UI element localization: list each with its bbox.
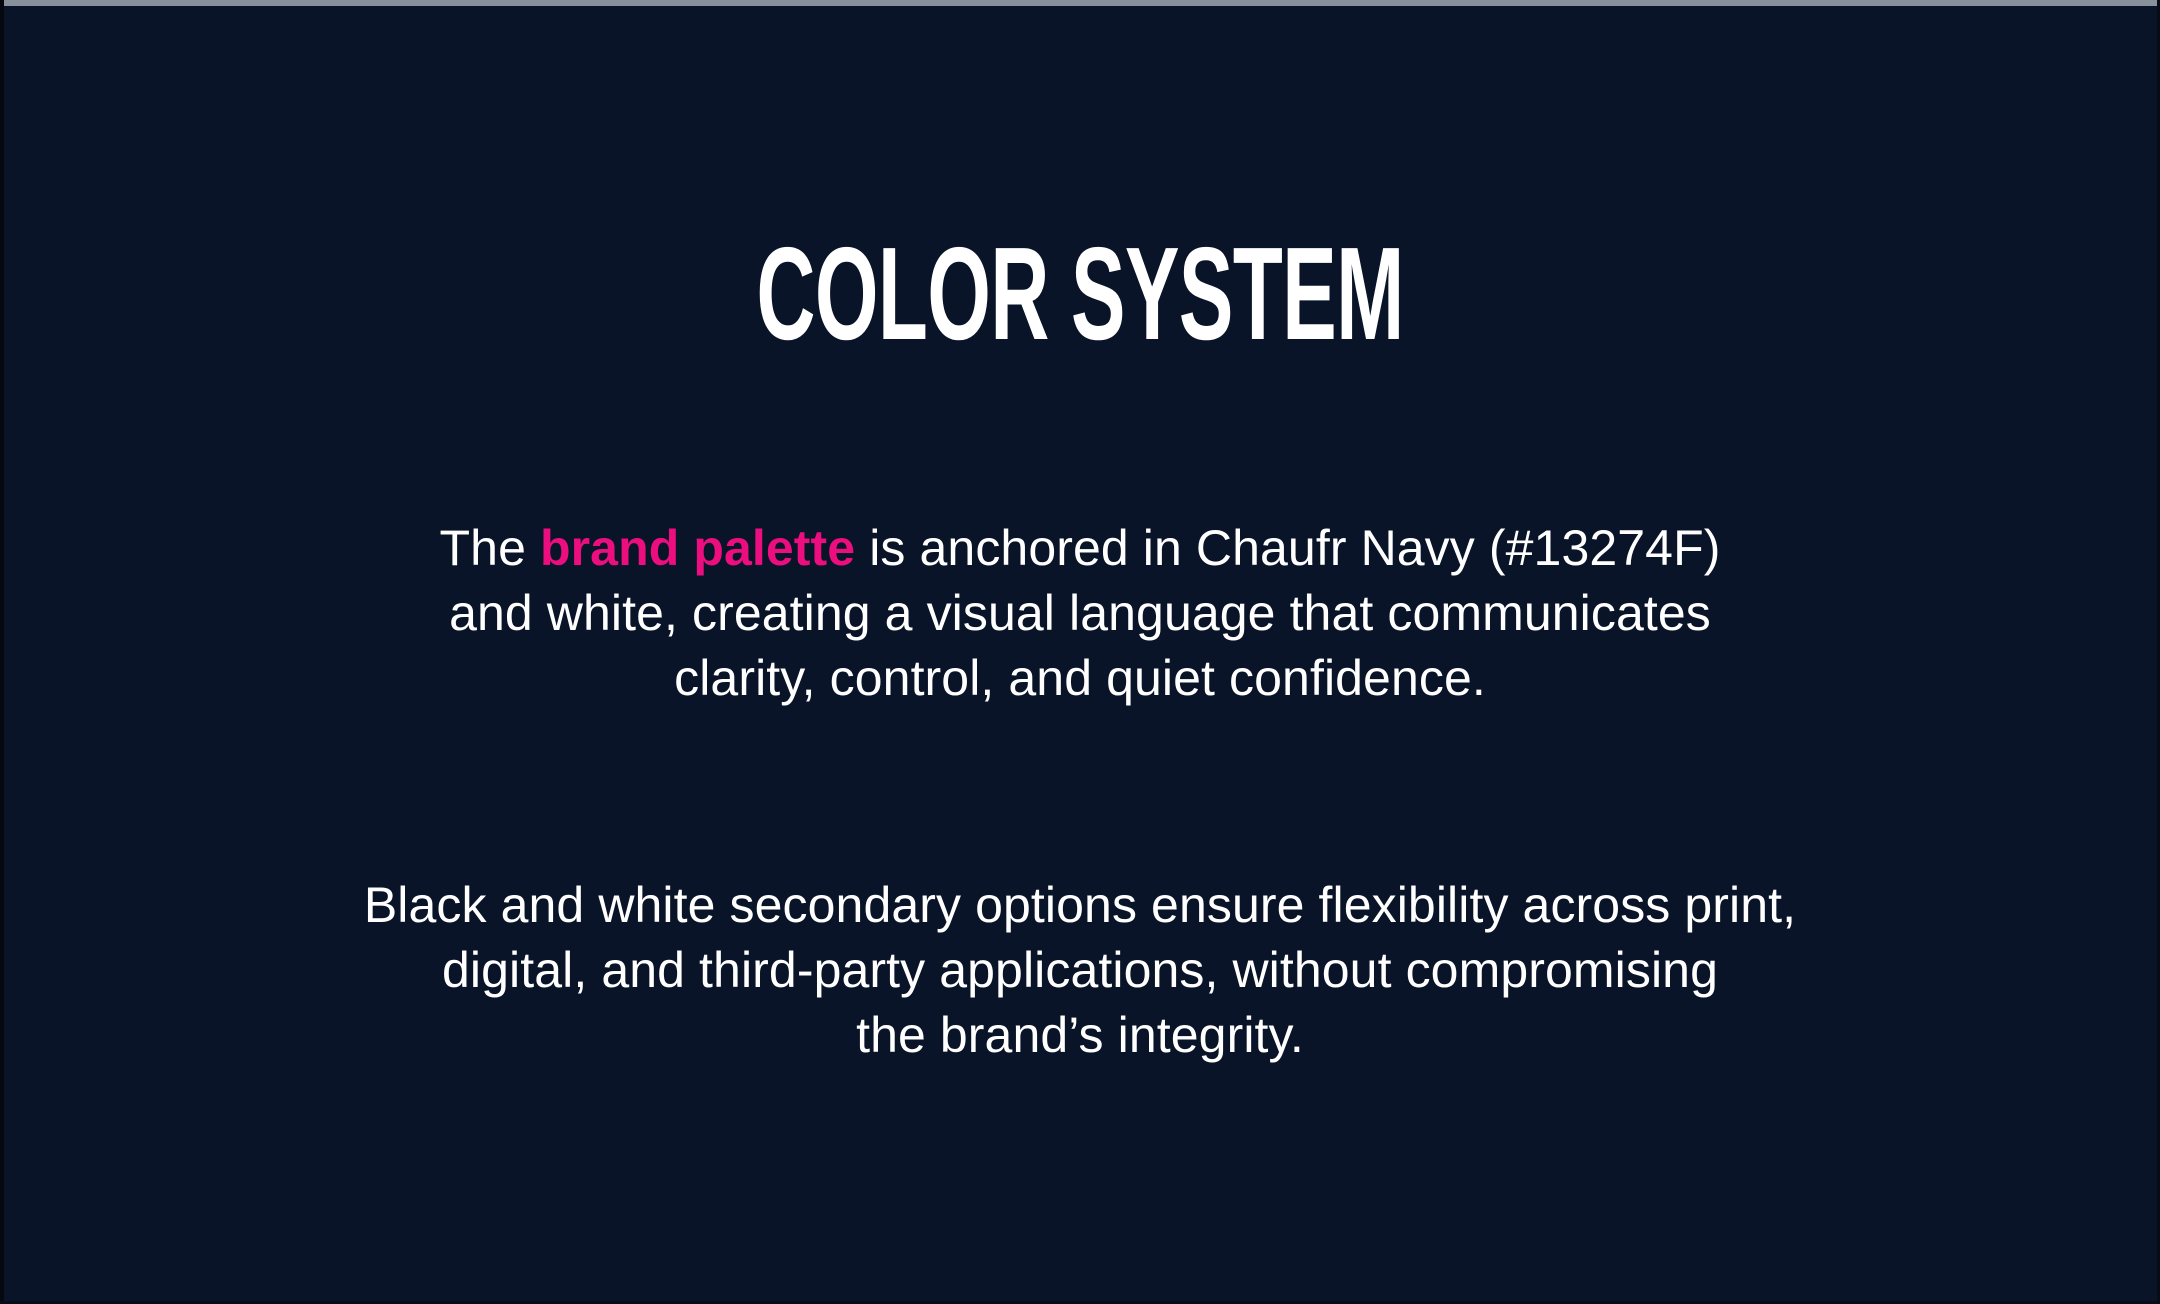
paragraph-brand-palette: The brand palette is anchored in Chaufr …: [260, 516, 1900, 711]
paragraph-1-line-1-suffix: is anchored in Chaufr Navy (#13274F): [855, 520, 1720, 576]
top-edge-strip: [0, 0, 2160, 6]
left-edge-strip: [0, 0, 4, 1304]
page-title: COLOR SYSTEM: [756, 228, 1403, 360]
paragraph-1-line-1: The brand palette is anchored in Chaufr …: [260, 516, 1900, 581]
page-title-container: COLOR SYSTEM: [0, 228, 2160, 360]
paragraph-1-line-2: and white, creating a visual language th…: [260, 581, 1900, 646]
paragraph-2-line-3: the brand’s integrity.: [260, 1003, 1900, 1068]
paragraph-1-line-1-prefix: The: [440, 520, 540, 576]
accent-brand-palette: brand palette: [540, 520, 855, 576]
paragraph-secondary-options: Black and white secondary options ensure…: [260, 873, 1900, 1068]
paragraph-1-line-3: clarity, control, and quiet confidence.: [260, 646, 1900, 711]
slide-content: COLOR SYSTEM The brand palette is anchor…: [0, 0, 2160, 1304]
paragraph-2-line-2: digital, and third-party applications, w…: [260, 938, 1900, 1003]
slide-canvas: COLOR SYSTEM The brand palette is anchor…: [0, 0, 2160, 1304]
paragraph-2-line-1: Black and white secondary options ensure…: [260, 873, 1900, 938]
